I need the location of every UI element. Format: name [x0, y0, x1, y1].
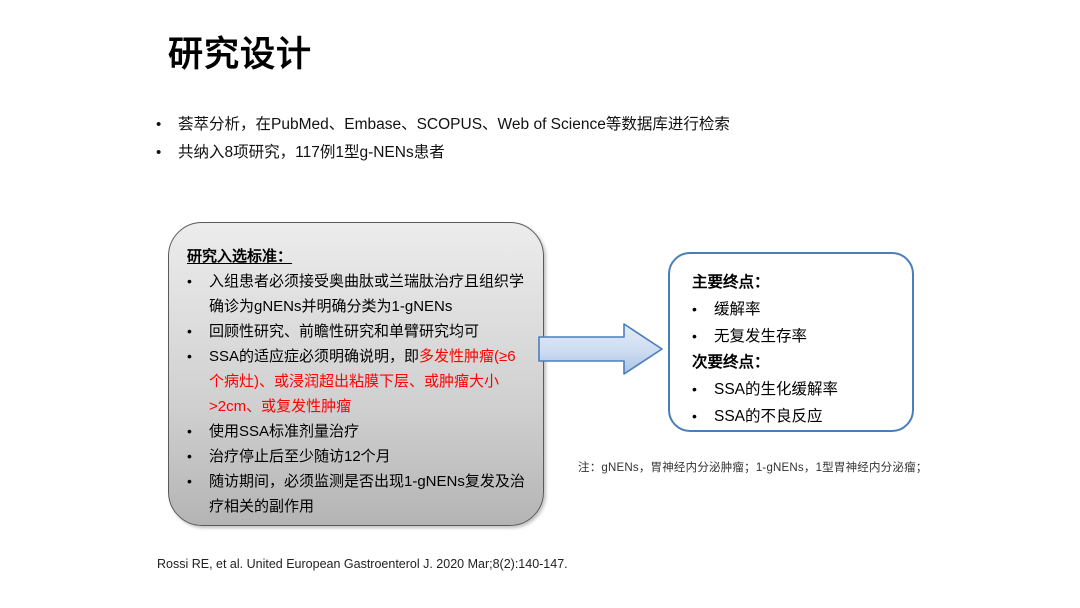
bullet-icon: •	[156, 141, 178, 165]
list-item-text: SSA的不良反应	[714, 403, 898, 430]
list-item: • 回顾性研究、前瞻性研究和单臂研究均可	[187, 319, 527, 344]
inclusion-criteria-heading-text: 研究入选标准	[187, 248, 277, 265]
list-item-text: 随访期间，必须监测是否出现1-gNENs复发及治疗相关的副作用	[209, 469, 527, 519]
list-item: • 荟萃分析，在PubMed、Embase、SCOPUS、Web of Scie…	[156, 113, 996, 137]
list-item: • 入组患者必须接受奥曲肽或兰瑞肽治疗且组织学确诊为gNENs并明确分类为1-g…	[187, 269, 527, 319]
list-item: • 无复发生存率	[692, 323, 898, 350]
bullet-icon: •	[187, 269, 209, 294]
list-item-text-mixed: SSA的适应症必须明确说明，即多发性肿瘤(≥6个病灶)、或浸润超出粘膜下层、或肿…	[209, 344, 527, 419]
bullet-icon: •	[187, 469, 209, 494]
intro-bullet-list: • 荟萃分析，在PubMed、Embase、SCOPUS、Web of Scie…	[156, 113, 996, 169]
list-item-text: 荟萃分析，在PubMed、Embase、SCOPUS、Web of Scienc…	[178, 113, 996, 137]
endpoints-box: 主要终点： • 缓解率 • 无复发生存率 次要终点： • SSA的生化缓解率 •…	[668, 252, 914, 432]
inclusion-criteria-list: • 入组患者必须接受奥曲肽或兰瑞肽治疗且组织学确诊为gNENs并明确分类为1-g…	[187, 269, 527, 519]
list-item-text: SSA的适应症必须明确说明，即	[209, 348, 419, 365]
citation-reference: Rossi RE, et al. United European Gastroe…	[157, 557, 568, 571]
list-item-text: 使用SSA标准剂量治疗	[209, 419, 527, 444]
list-item-text: 入组患者必须接受奥曲肽或兰瑞肽治疗且组织学确诊为gNENs并明确分类为1-gNE…	[209, 269, 527, 319]
secondary-endpoint-heading: 次要终点：	[692, 350, 898, 376]
bullet-icon: •	[187, 444, 209, 469]
list-item: • SSA的不良反应	[692, 403, 898, 430]
list-item-text: 回顾性研究、前瞻性研究和单臂研究均可	[209, 319, 527, 344]
list-item-text: 共纳入8项研究，117例1型g-NENs患者	[178, 141, 996, 165]
right-arrow-icon	[538, 322, 664, 376]
bullet-icon: •	[187, 319, 209, 344]
inclusion-criteria-box: 研究入选标准： • 入组患者必须接受奥曲肽或兰瑞肽治疗且组织学确诊为gNENs并…	[168, 222, 544, 526]
bullet-icon: •	[692, 296, 714, 323]
bullet-icon: •	[187, 344, 209, 369]
bullet-icon: •	[156, 113, 178, 137]
inclusion-criteria-heading: 研究入选标准：	[187, 245, 527, 266]
list-item: • 使用SSA标准剂量治疗	[187, 419, 527, 444]
abbreviation-note: 注：gNENs，胃神经内分泌肿瘤；1-gNENs，1型胃神经内分泌瘤；	[578, 459, 927, 475]
list-item-text: 无复发生存率	[714, 323, 898, 350]
list-item: • 治疗停止后至少随访12个月	[187, 444, 527, 469]
list-item: • 随访期间，必须监测是否出现1-gNENs复发及治疗相关的副作用	[187, 469, 527, 519]
list-item: • 共纳入8项研究，117例1型g-NENs患者	[156, 141, 996, 165]
bullet-icon: •	[692, 403, 714, 430]
list-item: • SSA的生化缓解率	[692, 376, 898, 403]
bullet-icon: •	[692, 376, 714, 403]
list-item-text: SSA的生化缓解率	[714, 376, 898, 403]
primary-endpoint-heading: 主要终点：	[692, 270, 898, 296]
list-item: • SSA的适应症必须明确说明，即多发性肿瘤(≥6个病灶)、或浸润超出粘膜下层、…	[187, 344, 527, 419]
list-item-text: 治疗停止后至少随访12个月	[209, 444, 527, 469]
bullet-icon: •	[692, 323, 714, 350]
list-item: • 缓解率	[692, 296, 898, 323]
bullet-icon: •	[187, 419, 209, 444]
list-item-text: 缓解率	[714, 296, 898, 323]
inclusion-criteria-heading-colon: ：	[277, 248, 292, 265]
slide-canvas: 研究设计 • 荟萃分析，在PubMed、Embase、SCOPUS、Web of…	[0, 0, 1080, 608]
page-title: 研究设计	[168, 34, 312, 76]
